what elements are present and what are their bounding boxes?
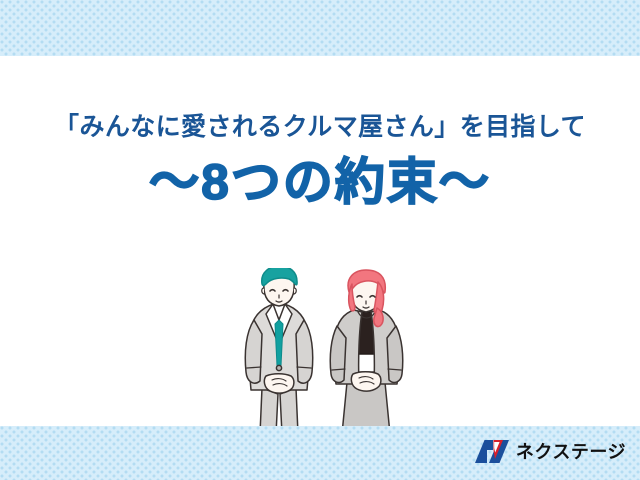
nextage-n-mark <box>475 440 509 463</box>
top-dot-band <box>0 0 640 56</box>
two-bowing-staff-illustration <box>232 268 422 434</box>
figure-woman <box>330 270 403 434</box>
page-title: 「みんなに愛されるクルマ屋さん」を目指して <box>0 112 640 142</box>
promo-banner: 「みんなに愛されるクルマ屋さん」を目指して 〜8つの約束〜 <box>0 0 640 480</box>
brand-logo: ネクステージ <box>475 440 626 463</box>
figure-man <box>245 268 312 434</box>
page-subtitle: 〜8つの約束〜 <box>0 156 640 209</box>
brand-name: ネクステージ <box>516 443 626 461</box>
headline-block: 「みんなに愛されるクルマ屋さん」を目指して 〜8つの約束〜 <box>0 112 640 209</box>
